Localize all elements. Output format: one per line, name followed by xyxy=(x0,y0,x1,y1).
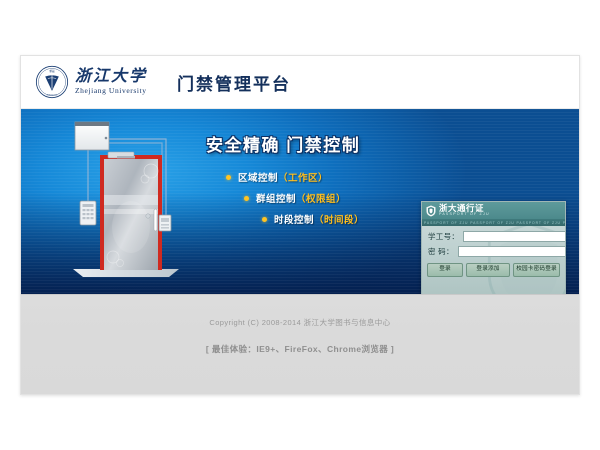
field-row-password: 密 码： xyxy=(428,246,559,257)
site-footer: Copyright (C) 2008-2014 浙江大学图书与信息中心 [ 最佳… xyxy=(21,294,579,395)
zju-crest-icon: 求是 ZHEJIANG xyxy=(35,65,69,99)
userid-label: 学工号： xyxy=(428,231,459,242)
login-form: 学工号： 密 码： xyxy=(422,226,565,257)
page-title: 门禁管理平台 xyxy=(177,70,291,95)
feature-label: 群组控制 xyxy=(256,191,296,205)
feature-label: 区域控制 xyxy=(238,170,278,184)
banner-headline: 安全精确 门禁控制 xyxy=(206,131,421,156)
shield-icon xyxy=(426,205,436,217)
login-button-row: 登录 登录添加 校园卡密码登录 xyxy=(422,261,565,277)
feature-list: 区域控制 （工作区） 群组控制 （权限组） 时段控制 （时间段） xyxy=(206,170,421,226)
login-panel-titles: 浙大通行证 PASSPORT OF ZJU xyxy=(439,204,490,217)
password-input[interactable] xyxy=(458,246,566,257)
copyright-text: Copyright (C) 2008-2014 浙江大学图书与信息中心 xyxy=(21,295,579,328)
login-panel: 浙大通行证 PASSPORT OF ZJU PASSPORT OF ZJU PA… xyxy=(421,201,566,294)
login-add-button[interactable]: 登录添加 xyxy=(466,263,510,277)
app-page: 求是 ZHEJIANG 浙江大学 Zhejiang University 门禁管… xyxy=(20,55,580,395)
svg-text:求是: 求是 xyxy=(49,69,55,73)
logo-text-cn: 浙江大学 xyxy=(75,69,147,85)
access-control-door-illustration xyxy=(61,117,191,287)
brand-text: 浙江大学 Zhejiang University xyxy=(75,69,147,95)
bullet-dot-icon xyxy=(262,217,267,222)
password-label: 密 码： xyxy=(428,246,454,257)
login-panel-header: 浙大通行证 PASSPORT OF ZJU xyxy=(422,202,565,219)
feature-item-area-control: 区域控制 （工作区） xyxy=(226,170,421,184)
field-row-userid: 学工号： xyxy=(428,231,559,242)
feature-highlight: （工作区） xyxy=(278,170,328,184)
logo-text-en: Zhejiang University xyxy=(75,87,147,95)
feature-item-group-control: 群组控制 （权限组） xyxy=(244,191,421,205)
userid-input[interactable] xyxy=(463,231,566,242)
login-panel-watermark-strip: PASSPORT OF ZJU PASSPORT OF ZJU PASSPORT… xyxy=(422,219,565,226)
svg-text:ZHEJIANG: ZHEJIANG xyxy=(47,94,58,97)
login-button[interactable]: 登录 xyxy=(427,263,463,277)
bullet-dot-icon xyxy=(244,196,249,201)
feature-highlight: （时间段） xyxy=(314,212,364,226)
site-header: 求是 ZHEJIANG 浙江大学 Zhejiang University 门禁管… xyxy=(21,56,579,109)
browser-recommendation-text: [ 最佳体验：IE9+、FireFox、Chrome浏览器 ] xyxy=(21,328,579,355)
bullet-dot-icon xyxy=(226,175,231,180)
login-panel-title-cn: 浙大通行证 xyxy=(439,204,490,213)
login-panel-title-en: PASSPORT OF ZJU xyxy=(439,213,490,217)
hero-banner: 安全精确 门禁控制 区域控制 （工作区） 群组控制 （权限组） 时段控制 （时间… xyxy=(21,109,579,294)
campus-card-login-button[interactable]: 校园卡密码登录 xyxy=(513,263,560,277)
banner-copy: 安全精确 门禁控制 区域控制 （工作区） 群组控制 （权限组） 时段控制 （时间… xyxy=(206,131,421,233)
feature-highlight: （权限组） xyxy=(296,191,346,205)
feature-label: 时段控制 xyxy=(274,212,314,226)
feature-item-time-control: 时段控制 （时间段） xyxy=(262,212,421,226)
